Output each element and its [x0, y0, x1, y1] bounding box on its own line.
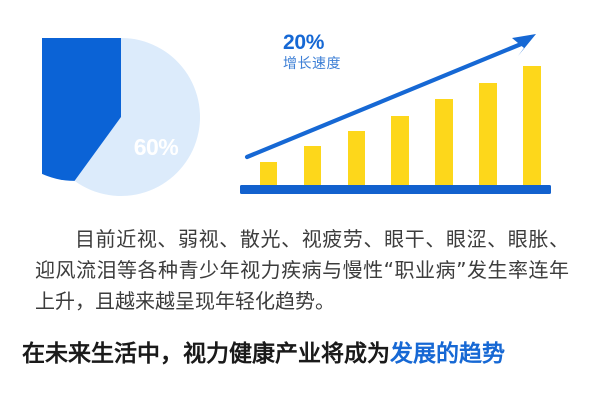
- bar-4: [391, 116, 409, 185]
- bar-5: [435, 99, 453, 185]
- pie-value-label: 60%: [124, 134, 188, 161]
- bar-3: [348, 131, 365, 185]
- bar-2: [304, 146, 321, 185]
- bar-1: [260, 162, 277, 185]
- poster-root: 60% 20%: [0, 0, 600, 400]
- growth-subtitle-label: 增长速度: [283, 57, 403, 71]
- text-block: 目前近视、弱视、散光、视疲劳、眼干、眼涩、眼胀、迎风流泪等各种青少年视力疾病与慢…: [0, 224, 600, 400]
- growth-percent-label: 20%: [283, 32, 403, 53]
- body-paragraph: 目前近视、弱视、散光、视疲劳、眼干、眼涩、眼胀、迎风流泪等各种青少年视力疾病与慢…: [35, 224, 569, 317]
- bar-7: [523, 66, 541, 185]
- pie-chart: [42, 38, 200, 196]
- growth-callout: 20% 增长速度: [283, 32, 403, 71]
- headline: 在未来生活中，视力健康产业将成为发展的趋势: [22, 339, 582, 369]
- headline-prefix: 在未来生活中，视力健康产业将成为: [22, 341, 390, 367]
- chart-baseline: [240, 185, 551, 194]
- bar-6: [479, 83, 497, 185]
- headline-accent: 发展的趋势: [390, 341, 505, 367]
- graphics-band: 60% 20%: [0, 0, 600, 215]
